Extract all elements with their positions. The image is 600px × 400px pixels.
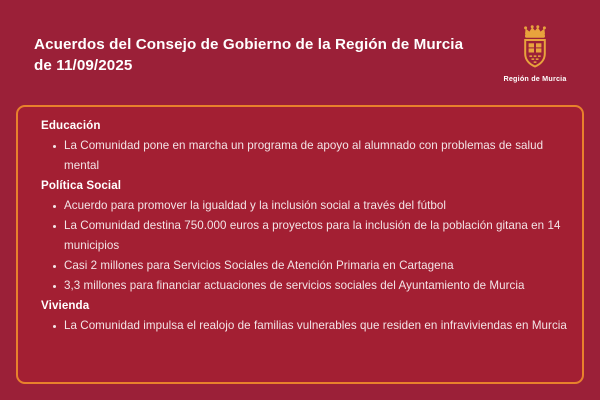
- region-de-murcia-coat-of-arms-icon: [513, 25, 557, 71]
- agreement-item[interactable]: La Comunidad impulsa el realojo de famil…: [32, 316, 568, 336]
- agreement-item[interactable]: La Comunidad destina 750.000 euros a pro…: [32, 216, 568, 256]
- agreements-panel: EducaciónLa Comunidad pone en marcha un …: [16, 105, 584, 384]
- sections-container: EducaciónLa Comunidad pone en marcha un …: [32, 116, 568, 336]
- agreement-item[interactable]: La Comunidad pone en marcha un programa …: [32, 136, 568, 176]
- slide-root: Acuerdos del Consejo de Gobierno de la R…: [0, 0, 600, 400]
- agreement-section: Política SocialAcuerdo para promover la …: [32, 176, 568, 296]
- section-heading: Política Social: [41, 176, 568, 196]
- logo: Región de Murcia: [492, 21, 578, 83]
- section-heading: Vivienda: [41, 296, 568, 316]
- agreement-item[interactable]: Acuerdo para promover la igualdad y la i…: [32, 196, 568, 216]
- agreement-section: EducaciónLa Comunidad pone en marcha un …: [32, 116, 568, 176]
- agreement-list: La Comunidad impulsa el realojo de famil…: [32, 316, 568, 336]
- logo-caption: Región de Murcia: [503, 74, 566, 83]
- section-heading: Educación: [41, 116, 568, 136]
- agreement-item[interactable]: Casi 2 millones para Servicios Sociales …: [32, 256, 568, 276]
- agreement-section: ViviendaLa Comunidad impulsa el realojo …: [32, 296, 568, 336]
- agreement-item[interactable]: 3,3 millones para financiar actuaciones …: [32, 276, 568, 296]
- agreement-list: Acuerdo para promover la igualdad y la i…: [32, 196, 568, 296]
- header: Acuerdos del Consejo de Gobierno de la R…: [0, 0, 600, 103]
- agreement-list: La Comunidad pone en marcha un programa …: [32, 136, 568, 176]
- page-title: Acuerdos del Consejo de Gobierno de la R…: [34, 28, 464, 76]
